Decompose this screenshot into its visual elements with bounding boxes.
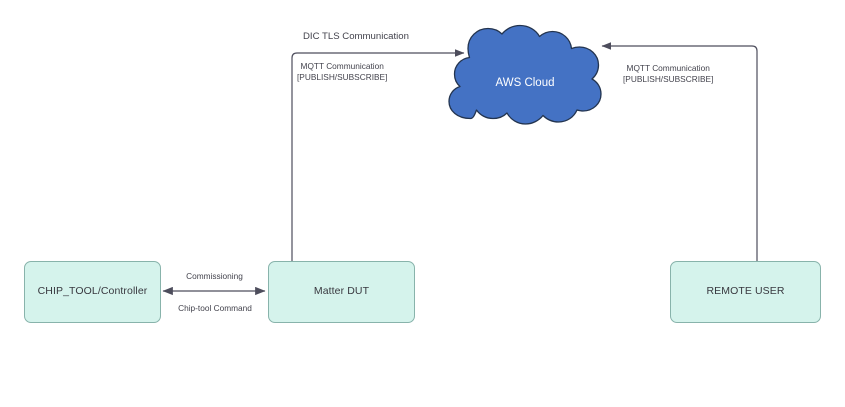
aws-cloud-icon <box>449 26 601 125</box>
edge-label-mqtt-dut-line1: MQTT Communication <box>297 61 387 72</box>
node-matter-dut[interactable]: Matter DUT <box>268 261 415 323</box>
edge-label-mqtt-remoteuser-line2: [PUBLISH/SUBSCRIBE] <box>623 74 713 85</box>
diagram-edges-layer <box>0 0 845 407</box>
edge-label-chip-tool-command: Chip-tool Command <box>169 303 261 314</box>
node-remote-user[interactable]: REMOTE USER <box>670 261 821 323</box>
edge-label-mqtt-remoteuser: MQTT Communication [PUBLISH/SUBSCRIBE] <box>623 63 713 85</box>
edge-label-mqtt-dut: MQTT Communication [PUBLISH/SUBSCRIBE] <box>297 61 387 83</box>
edge-label-commissioning: Commissioning <box>172 271 257 282</box>
node-remote-user-label: REMOTE USER <box>706 285 784 298</box>
node-matter-dut-label: Matter DUT <box>314 285 369 298</box>
diagram-canvas: AWS Cloud DIC TLS Communication MQTT Com… <box>0 0 845 407</box>
edge-dut-to-cloud <box>292 53 464 262</box>
aws-cloud-label: AWS Cloud <box>448 77 602 89</box>
edge-label-mqtt-remoteuser-line1: MQTT Communication <box>623 63 713 74</box>
edge-label-dic-tls-communication: DIC TLS Communication <box>303 31 409 44</box>
node-chip-tool-controller[interactable]: CHIP_TOOL/Controller <box>24 261 161 323</box>
node-chip-tool-controller-label: CHIP_TOOL/Controller <box>38 285 148 298</box>
edge-label-mqtt-dut-line2: [PUBLISH/SUBSCRIBE] <box>297 72 387 83</box>
